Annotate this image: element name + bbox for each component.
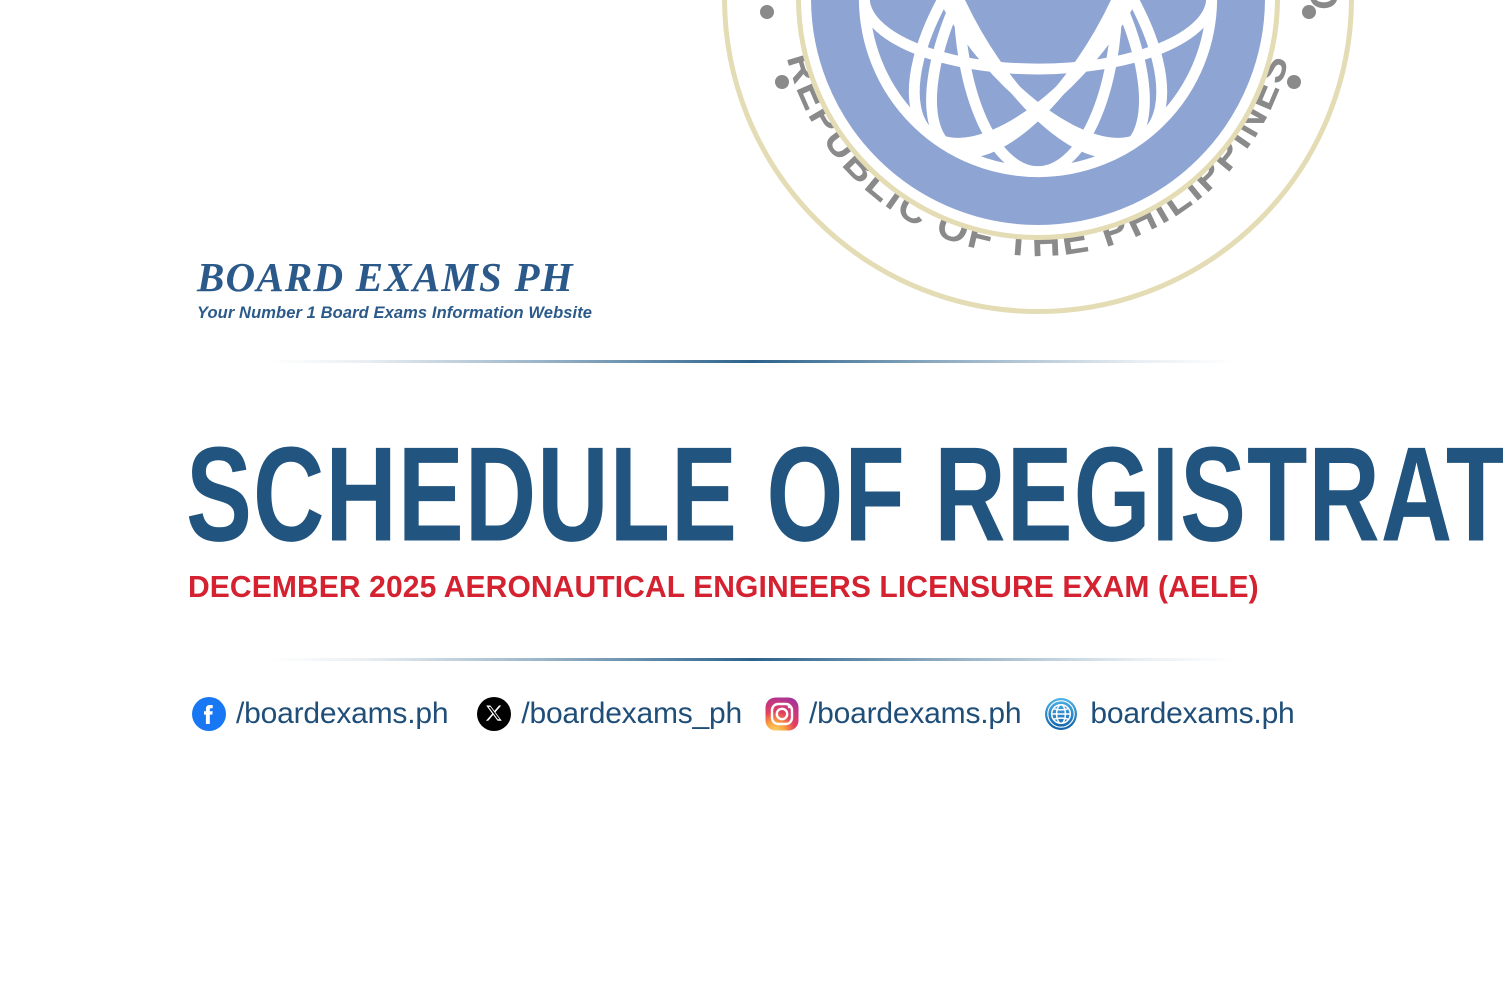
page-subtitle: DECEMBER 2025 AERONAUTICAL ENGINEERS LIC… xyxy=(188,570,1331,605)
facebook-icon[interactable] xyxy=(191,696,227,732)
poster-canvas: PROFESSIONAL REGULATION COMMISSION REPUB… xyxy=(0,0,1503,1003)
seal-atom-orbits xyxy=(811,0,1265,225)
seal-dot-left-2 xyxy=(775,75,789,89)
social-links-row: /boardexams.ph /boardexams_ph xyxy=(191,696,1295,732)
social-link-instagram[interactable]: /boardexams.ph xyxy=(764,696,1021,732)
seal-dot-left xyxy=(760,5,774,19)
facebook-handle[interactable]: /boardexams.ph xyxy=(236,699,448,729)
brand-tagline: Your Number 1 Board Exams Information We… xyxy=(197,304,797,323)
instagram-icon[interactable] xyxy=(764,696,800,732)
divider-top xyxy=(270,360,1236,363)
seal-dot-right-2 xyxy=(1287,75,1301,89)
x-handle[interactable]: /boardexams_ph xyxy=(521,699,742,729)
instagram-handle[interactable]: /boardexams.ph xyxy=(809,699,1021,729)
page-title: SCHEDULE OF REGISTRATION xyxy=(186,427,1297,562)
social-link-x[interactable]: /boardexams_ph xyxy=(476,696,742,732)
brand-name: BOARD EXAMS PH xyxy=(197,256,797,299)
brand-logo: BOARD EXAMS PH Your Number 1 Board Exams… xyxy=(197,256,797,323)
seal-dot-right xyxy=(1302,5,1316,19)
prc-seal: PROFESSIONAL REGULATION COMMISSION REPUB… xyxy=(722,0,1354,314)
globe-website-icon[interactable] xyxy=(1043,696,1079,732)
website-handle[interactable]: boardexams.ph xyxy=(1090,699,1294,729)
seal-globe xyxy=(808,0,1268,228)
social-link-facebook[interactable]: /boardexams.ph xyxy=(191,696,448,732)
social-link-website[interactable]: boardexams.ph xyxy=(1043,696,1294,732)
x-twitter-icon[interactable] xyxy=(476,696,512,732)
divider-bottom xyxy=(270,658,1236,661)
